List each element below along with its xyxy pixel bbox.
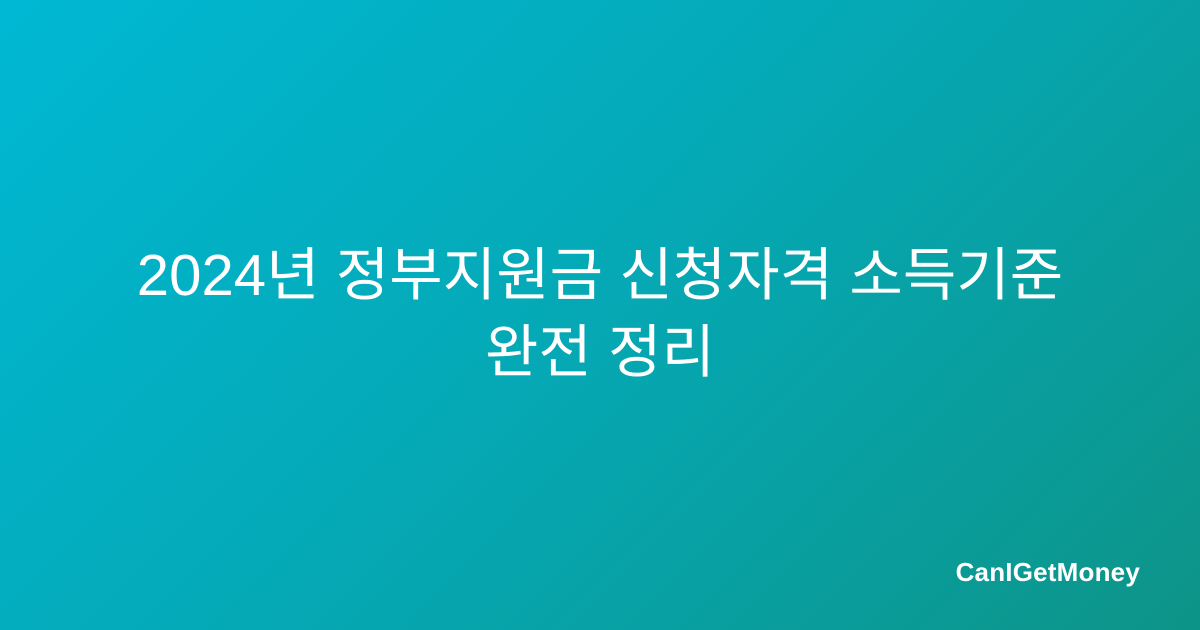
brand-wordmark: CanIGetMoney (956, 559, 1140, 585)
og-card: 2024년 정부지원금 신청자격 소득기준 완전 정리 CanIGetMoney (0, 0, 1200, 630)
page-title: 2024년 정부지원금 신청자격 소득기준 완전 정리 (88, 238, 1112, 391)
title-container: 2024년 정부지원금 신청자격 소득기준 완전 정리 (0, 0, 1200, 630)
